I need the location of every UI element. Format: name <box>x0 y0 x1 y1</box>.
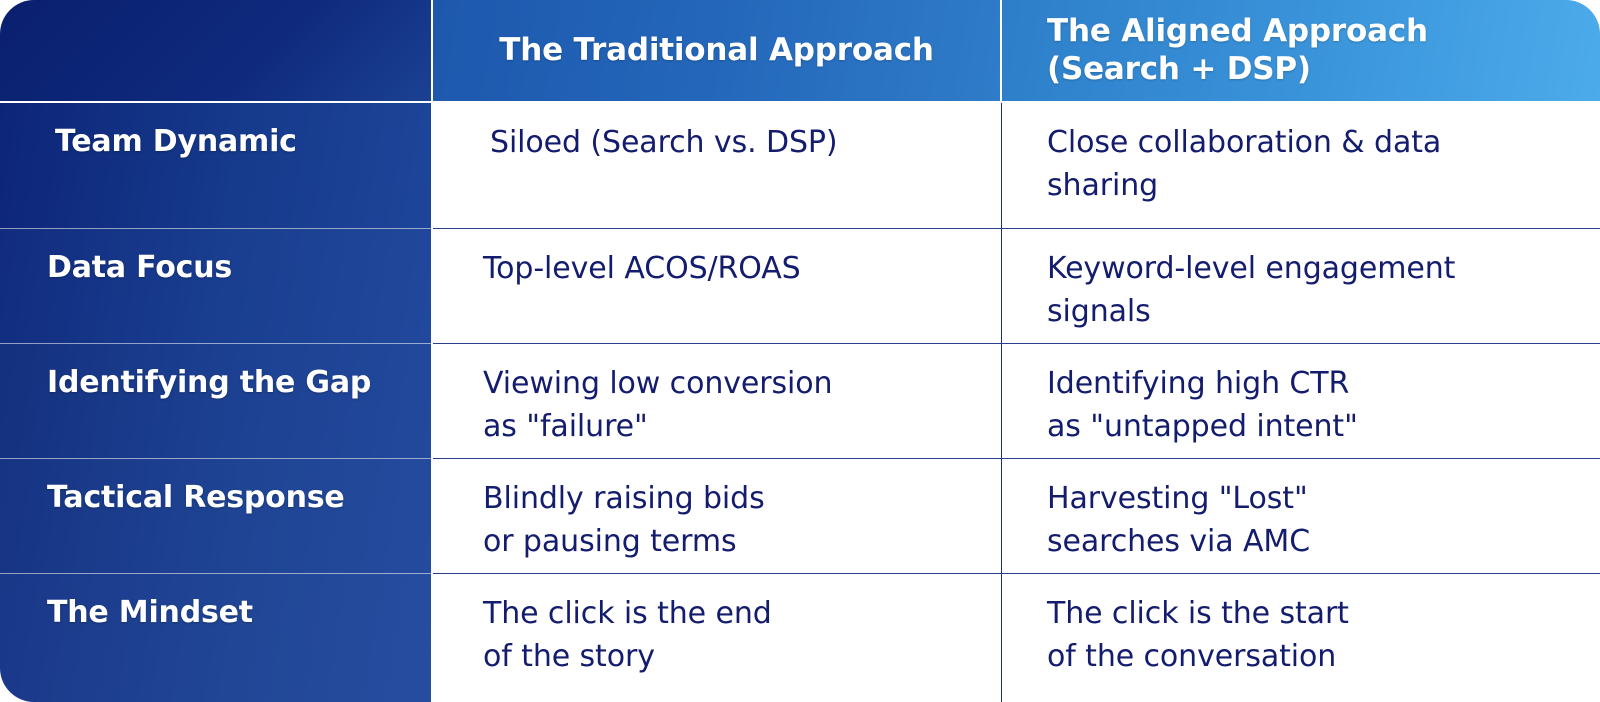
cell-text: Keyword-level engagement signals <box>1047 248 1552 333</box>
cell-traditional-tactical-response: Blindly raising bidsor pausing terms <box>433 459 1002 574</box>
cell-traditional-identifying-the-gap: Viewing low conversionas "failure" <box>433 344 1002 459</box>
row-label-cell: The Mindset <box>0 574 433 702</box>
row-label-cell: Tactical Response <box>0 459 433 574</box>
cell-line: of the story <box>483 636 1001 679</box>
cell-traditional-team-dynamic: Siloed (Search vs. DSP) <box>433 103 1002 229</box>
cell-text: Viewing low conversionas "failure" <box>483 363 1001 448</box>
cell-line: The click is the start <box>1047 593 1600 636</box>
cell-line: Siloed (Search vs. DSP) <box>490 122 1001 165</box>
column-header-traditional: The Traditional Approach <box>433 0 1002 103</box>
cell-text: Blindly raising bidsor pausing terms <box>483 478 1001 563</box>
cell-line: as "failure" <box>483 406 1001 449</box>
row-label-cell: Data Focus <box>0 229 433 344</box>
cell-line: searches via AMC <box>1047 521 1600 564</box>
column-header-aligned: The Aligned Approach(Search + DSP) <box>1002 0 1600 103</box>
column-header-aligned-line1: The Aligned Approach <box>1047 13 1428 51</box>
row-label-identifying-the-gap: Identifying the Gap <box>47 365 371 400</box>
cell-aligned-team-dynamic: Close collaboration & data sharing <box>1002 103 1600 229</box>
cell-text: Harvesting "Lost"searches via AMC <box>1047 478 1600 563</box>
cell-aligned-the-mindset: The click is the startof the conversatio… <box>1002 574 1600 702</box>
row-label-the-mindset: The Mindset <box>47 595 253 630</box>
row-label-cell: Identifying the Gap <box>0 344 433 459</box>
row-label-tactical-response: Tactical Response <box>47 480 345 515</box>
cell-line: as "untapped intent" <box>1047 406 1600 449</box>
cell-text: Siloed (Search vs. DSP) <box>490 122 1001 165</box>
cell-line: The click is the end <box>483 593 1001 636</box>
cell-line: or pausing terms <box>483 521 1001 564</box>
column-header-aligned-line2: (Search + DSP) <box>1047 51 1428 89</box>
cell-line: Blindly raising bids <box>483 478 1001 521</box>
row-label-cell: Team Dynamic <box>0 103 433 229</box>
cell-aligned-identifying-the-gap: Identifying high CTRas "untapped intent" <box>1002 344 1600 459</box>
cell-text: Close collaboration & data sharing <box>1047 122 1552 207</box>
cell-line: of the conversation <box>1047 636 1600 679</box>
cell-text: Top-level ACOS/ROAS <box>483 248 1001 291</box>
cell-line: Harvesting "Lost" <box>1047 478 1600 521</box>
cell-line: Viewing low conversion <box>483 363 1001 406</box>
row-label-team-dynamic: Team Dynamic <box>55 124 297 159</box>
cell-text: The click is the endof the story <box>483 593 1001 678</box>
cell-aligned-data-focus: Keyword-level engagement signals <box>1002 229 1600 344</box>
row-label-data-focus: Data Focus <box>47 250 232 285</box>
cell-traditional-data-focus: Top-level ACOS/ROAS <box>433 229 1002 344</box>
table-corner-cell <box>0 0 433 103</box>
comparison-table-grid: The Traditional Approach The Aligned App… <box>0 0 1600 702</box>
comparison-table: The Traditional Approach The Aligned App… <box>0 0 1600 702</box>
column-header-traditional-label: The Traditional Approach <box>499 32 933 70</box>
cell-traditional-the-mindset: The click is the endof the story <box>433 574 1002 702</box>
cell-aligned-tactical-response: Harvesting "Lost"searches via AMC <box>1002 459 1600 574</box>
column-header-aligned-label: The Aligned Approach(Search + DSP) <box>1047 13 1428 89</box>
cell-text: The click is the startof the conversatio… <box>1047 593 1600 678</box>
cell-text: Identifying high CTRas "untapped intent" <box>1047 363 1600 448</box>
cell-line: Identifying high CTR <box>1047 363 1600 406</box>
cell-line: Top-level ACOS/ROAS <box>483 248 1001 291</box>
